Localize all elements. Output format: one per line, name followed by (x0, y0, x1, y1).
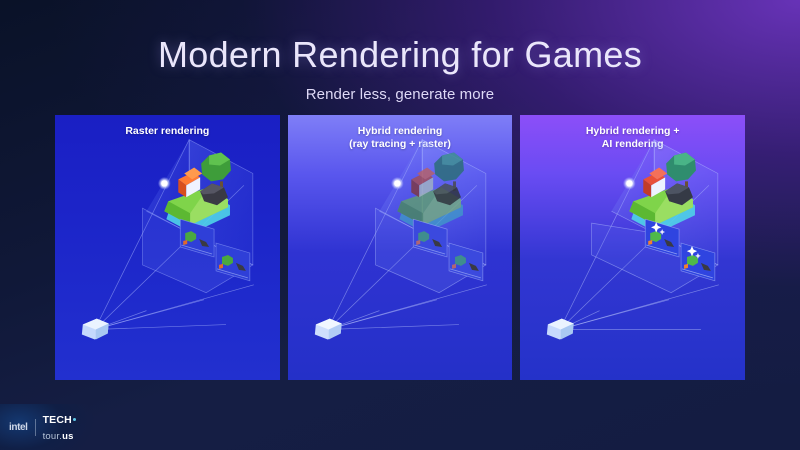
slide-canvas: Modern Rendering for Games Render less, … (0, 0, 800, 450)
panel-hybrid-ai-rendering[interactable]: Hybrid rendering + AI rendering (520, 115, 745, 380)
logo-divider (35, 419, 36, 436)
scene-hybrid (288, 115, 513, 380)
page-title: Modern Rendering for Games (0, 34, 800, 76)
page-subtitle: Render less, generate more (0, 86, 800, 103)
footer-logo: intel TECH tour.us (0, 404, 108, 450)
tech-tour-line2: tour. (43, 431, 63, 442)
point-light (627, 180, 633, 186)
tech-tour-line1: TECH (43, 414, 72, 426)
accent-dot-icon (73, 418, 76, 421)
scene-hybrid-ai (520, 115, 745, 380)
point-light (161, 180, 167, 186)
scene-raster (55, 115, 280, 380)
tech-tour-lockup: TECH tour.us (43, 411, 76, 443)
intel-wordmark: intel (9, 422, 28, 433)
tech-tour-region: us (62, 431, 74, 442)
point-light (394, 180, 400, 186)
comparison-panels: Raster rendering (55, 115, 745, 380)
panel-hybrid-rendering[interactable]: Hybrid rendering (ray tracing + raster) (288, 115, 513, 380)
camera-icon (82, 319, 109, 340)
camera-icon (315, 319, 342, 340)
camera-icon (547, 319, 574, 340)
panel-raster-rendering[interactable]: Raster rendering (55, 115, 280, 380)
